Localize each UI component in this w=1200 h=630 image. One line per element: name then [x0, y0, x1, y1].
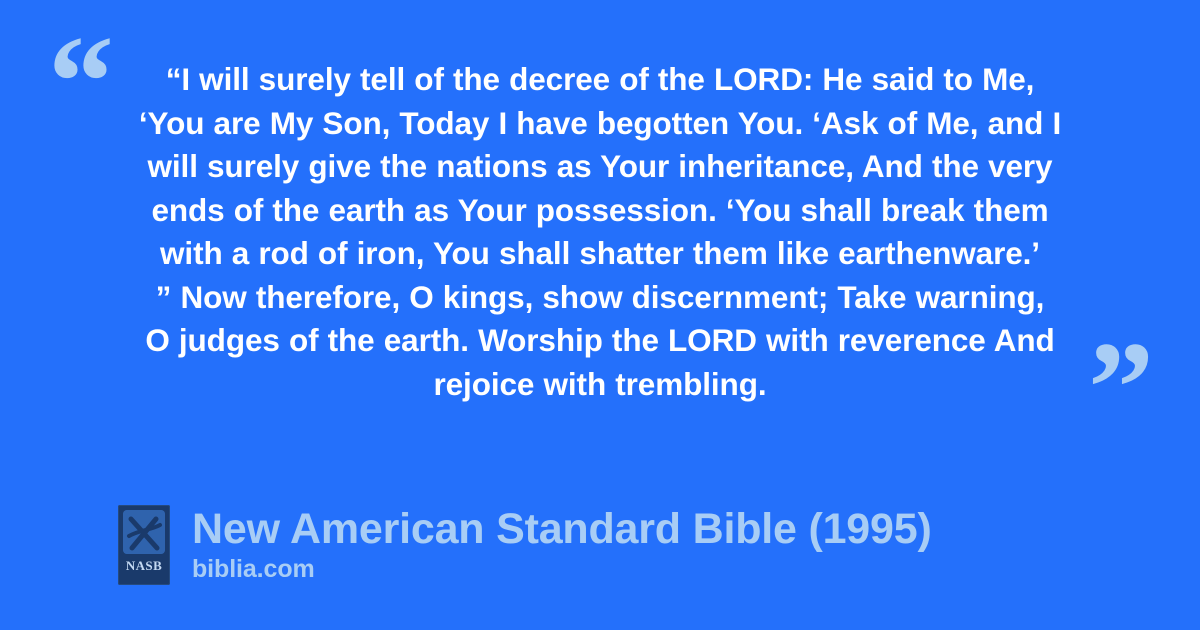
site-url-label[interactable]: biblia.com — [192, 555, 932, 584]
quote-card: “ “I will surely tell of the decree of t… — [0, 0, 1200, 630]
close-quote-icon: ” — [1088, 322, 1152, 454]
footer-text-group: New American Standard Bible (1995) bibli… — [192, 505, 932, 584]
bible-translation-title: New American Standard Bible (1995) — [192, 505, 932, 553]
quote-block: “I will surely tell of the decree of the… — [108, 58, 1092, 406]
nasb-logo-mark-icon — [123, 510, 165, 554]
nasb-logo-icon: NASB — [118, 505, 170, 585]
scripture-quote-text: “I will surely tell of the decree of the… — [108, 58, 1092, 406]
open-quote-icon: “ — [48, 16, 112, 148]
nasb-logo-label: NASB — [126, 559, 162, 572]
attribution-footer: NASB New American Standard Bible (1995) … — [118, 505, 932, 585]
